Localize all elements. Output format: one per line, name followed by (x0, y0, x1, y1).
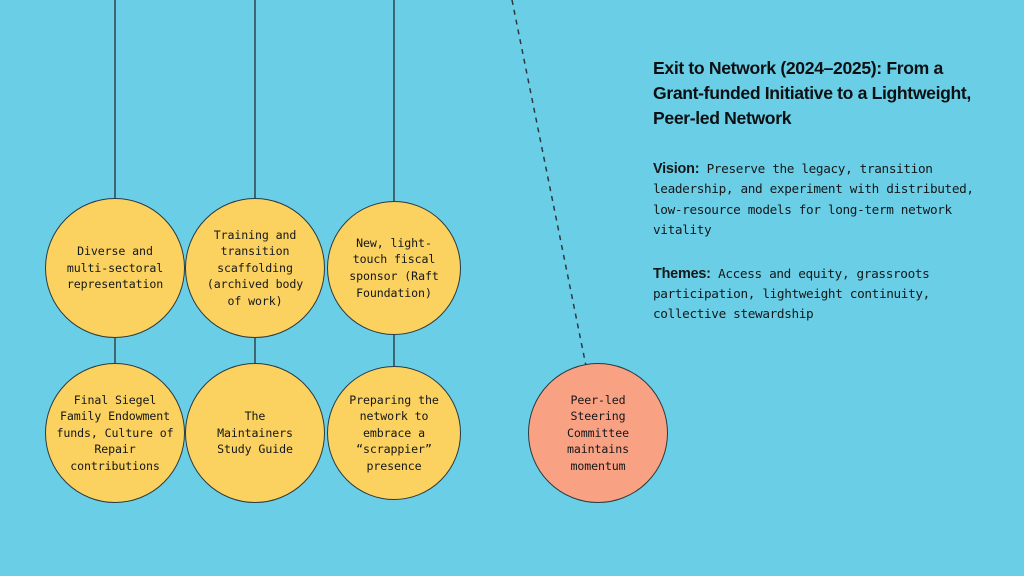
panel-paragraph-vision: Vision: Preserve the legacy, transition … (653, 159, 983, 241)
node-peer-led-steering-committee[interactable]: Peer-led Steering Committee maintains mo… (528, 363, 668, 503)
panel-title: Exit to Network (2024–2025): From a Gran… (653, 56, 983, 131)
node-fiscal-sponsor[interactable]: New, light- touch fiscal sponsor (Raft F… (327, 201, 461, 335)
panel-paragraph-lead-themes: Themes: (653, 266, 711, 282)
node-siegel-endowment-funds[interactable]: Final Siegel Family Endowment funds, Cul… (45, 363, 185, 503)
panel-paragraph-body-vision: Preserve the legacy, transition leadersh… (653, 161, 974, 237)
slide-canvas: Diverse and multi-sectoral representatio… (0, 0, 1024, 576)
connector-steering-dashed-stem (512, 0, 586, 366)
node-label-scrappier-presence: Preparing the network to embrace a “scra… (340, 392, 447, 475)
node-label-maintainers-study-guide: The Maintainers Study Guide (208, 408, 302, 458)
text-panel: Exit to Network (2024–2025): From a Gran… (653, 56, 983, 348)
node-label-peer-led-steering-committee: Peer-led Steering Committee maintains mo… (558, 392, 638, 475)
panel-paragraph-themes: Themes: Access and equity, grassroots pa… (653, 264, 983, 325)
node-diverse-representation[interactable]: Diverse and multi-sectoral representatio… (45, 198, 185, 338)
node-label-siegel-endowment-funds: Final Siegel Family Endowment funds, Cul… (48, 392, 183, 475)
node-training-transition-scaffolding[interactable]: Training and transition scaffolding (arc… (185, 198, 325, 338)
node-label-fiscal-sponsor: New, light- touch fiscal sponsor (Raft F… (340, 235, 447, 301)
panel-paragraph-lead-vision: Vision: (653, 161, 699, 177)
node-label-diverse-representation: Diverse and multi-sectoral representatio… (58, 243, 172, 293)
node-label-training-transition-scaffolding: Training and transition scaffolding (arc… (198, 227, 312, 310)
node-scrappier-presence[interactable]: Preparing the network to embrace a “scra… (327, 366, 461, 500)
node-maintainers-study-guide[interactable]: The Maintainers Study Guide (185, 363, 325, 503)
panel-paragraphs: Vision: Preserve the legacy, transition … (653, 159, 983, 325)
